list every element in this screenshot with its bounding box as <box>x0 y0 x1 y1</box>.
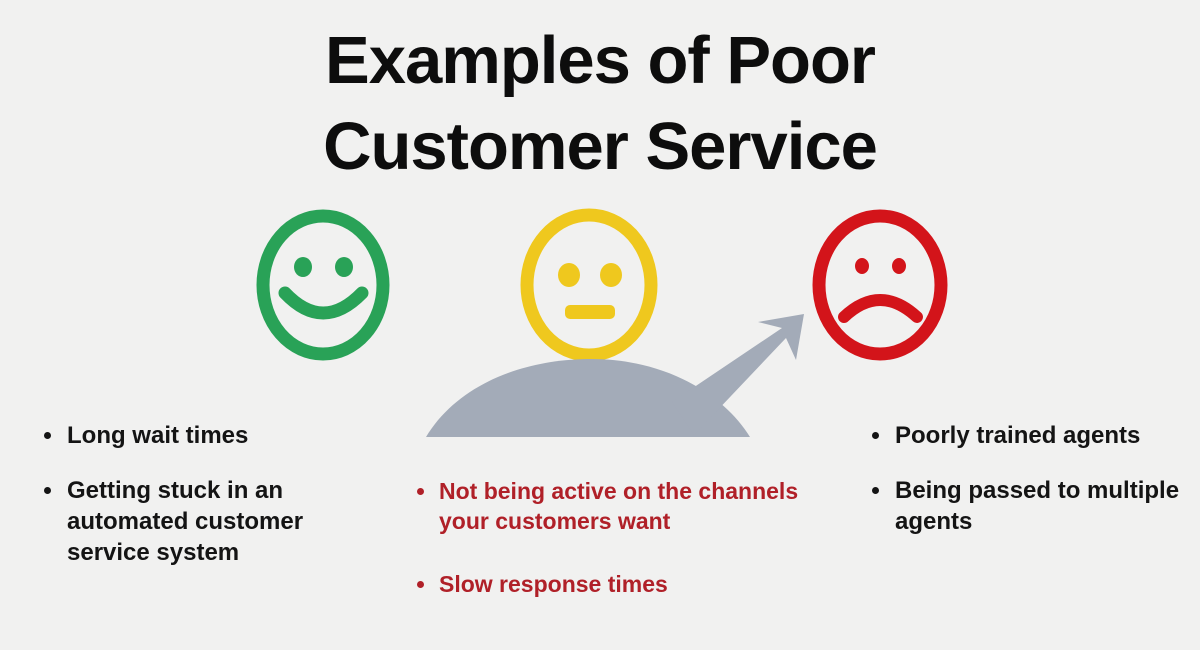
sad-face-icon <box>806 205 956 370</box>
list-item: Getting stuck in an automated customer s… <box>34 475 364 568</box>
page-title: Examples of Poor Customer Service <box>0 18 1200 190</box>
slide-canvas: Examples of Poor Customer Service <box>0 0 1200 650</box>
bullet-column-center: Not being active on the channels your cu… <box>408 476 818 632</box>
list-item: Slow response times <box>408 569 818 599</box>
list-item: Long wait times <box>34 420 364 451</box>
list-item: Being passed to multiple agents <box>862 475 1192 537</box>
bullet-list-right: Poorly trained agents Being passed to mu… <box>862 420 1192 537</box>
page-title-line-1: Examples of Poor <box>0 18 1200 104</box>
dome-up-right-arrow-icon <box>414 312 814 452</box>
list-item: Poorly trained agents <box>862 420 1192 451</box>
bullet-list-center: Not being active on the channels your cu… <box>408 476 818 599</box>
page-title-line-2: Customer Service <box>0 104 1200 190</box>
bullet-list-left: Long wait times Getting stuck in an auto… <box>34 420 364 568</box>
bullet-column-right: Poorly trained agents Being passed to mu… <box>862 420 1192 537</box>
bullet-column-left: Long wait times Getting stuck in an auto… <box>34 420 364 568</box>
list-item: Not being active on the channels your cu… <box>408 476 818 536</box>
happy-face-icon <box>252 205 394 370</box>
